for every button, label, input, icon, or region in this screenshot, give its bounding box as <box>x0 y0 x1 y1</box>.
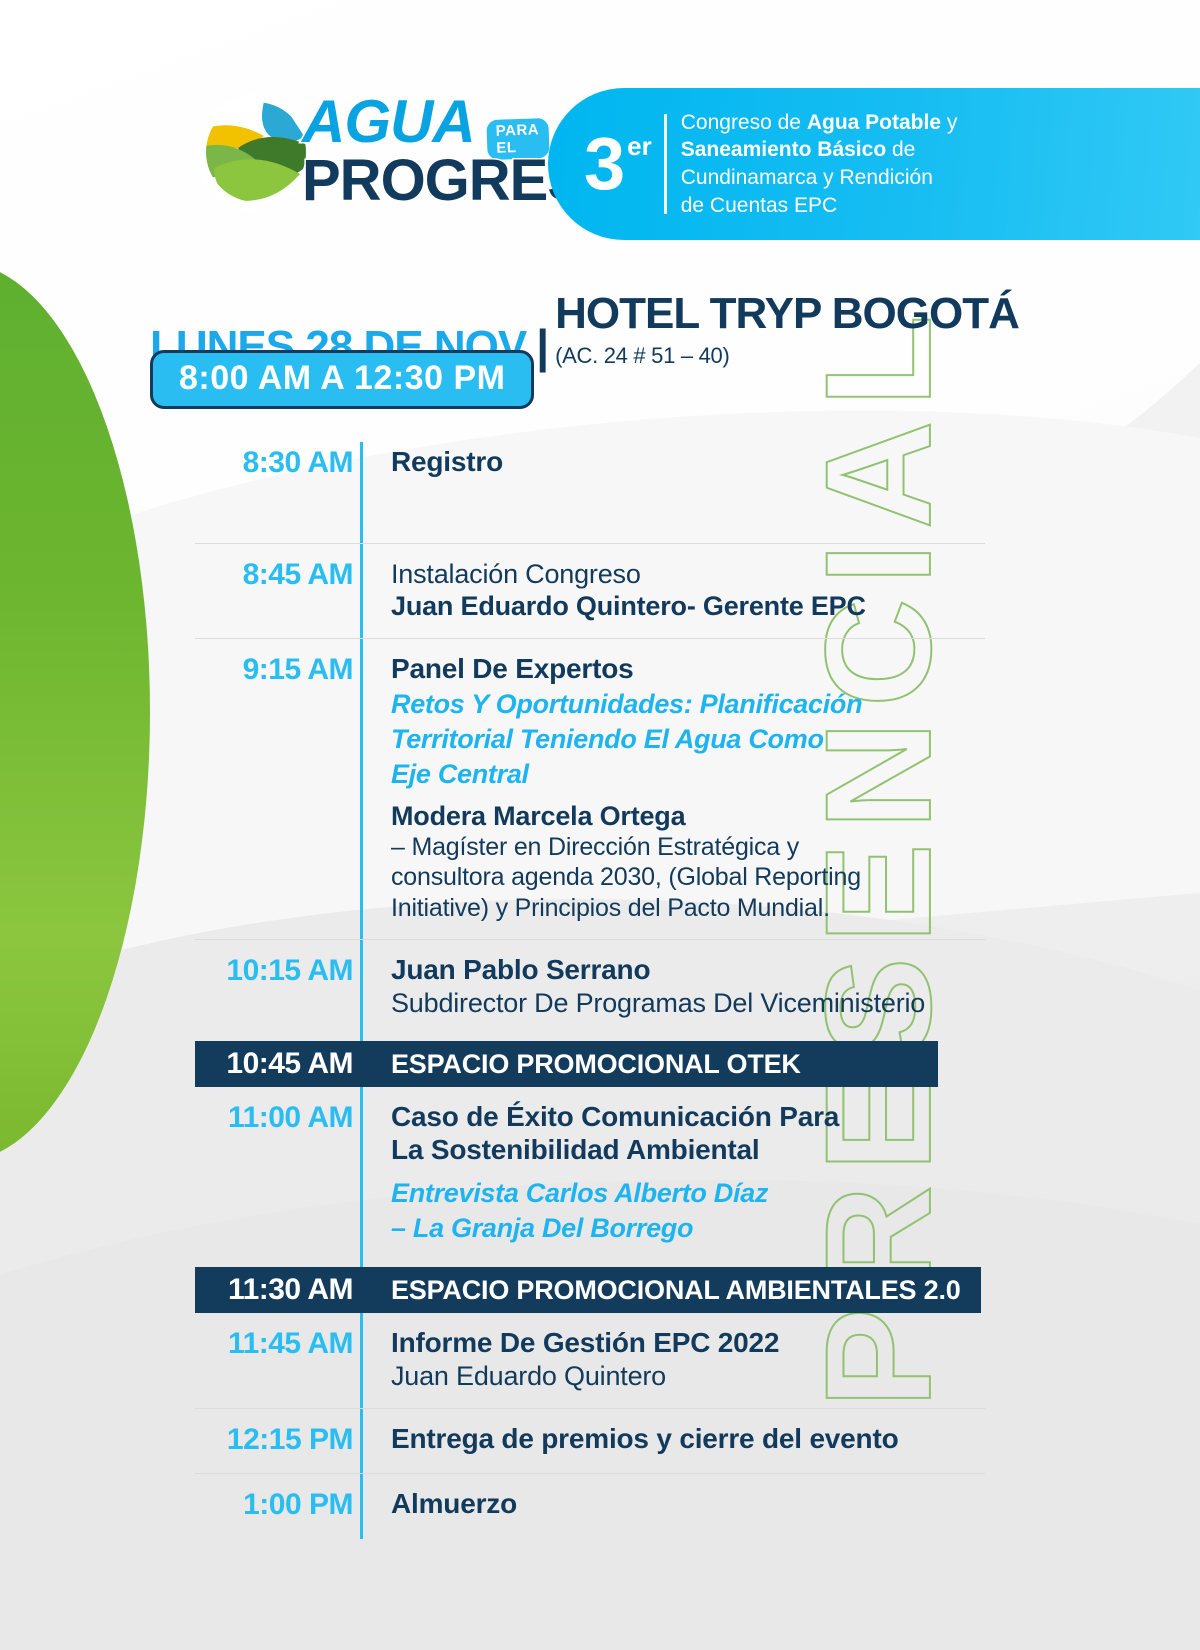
banner-line-3: Cundinamarca y Rendición <box>681 164 958 192</box>
banner-ordinal-number: 3 <box>584 127 625 201</box>
agenda-title: Registro <box>391 446 985 478</box>
agenda-subtitle: Juan Eduardo Quintero- Gerente EPC <box>391 590 985 622</box>
agenda-time: 1:00 PM <box>195 1488 371 1523</box>
event-date-venue: LUNES 28 DE NOV | HOTEL TRYP BOGOTÁ (AC.… <box>150 292 1050 369</box>
agenda-promo-row: 10:45 AM ESPACIO PROMOCIONAL OTEK <box>195 1041 938 1087</box>
agenda-title: Almuerzo <box>391 1488 985 1520</box>
agenda-title: Entrega de premios y cierre del evento <box>391 1423 985 1455</box>
agenda-time: 11:00 AM <box>195 1101 371 1136</box>
agenda-row: 10:15 AM Juan Pablo Serrano Subdirector … <box>195 939 985 1035</box>
agenda-row: 8:45 AM Instalación Congreso Juan Eduard… <box>195 543 985 639</box>
poster-header: AGUA PARA EL PROGRESO 3 er Congreso de A… <box>0 0 1200 250</box>
agenda-detail: Registro <box>371 446 985 478</box>
green-ellipse-decoration <box>0 262 150 1162</box>
agenda-title: Informe De Gestión EPC 2022 <box>391 1327 985 1359</box>
agenda-time: 11:30 AM <box>195 1273 371 1307</box>
row-accent-stripe <box>360 940 363 1035</box>
agenda-subtitle: Subdirector De Programas Del Viceministe… <box>391 987 985 1019</box>
agenda-row: 9:15 AM Panel De Expertos Retos Y Oportu… <box>195 638 985 939</box>
agenda-row: 12:15 PM Entrega de premios y cierre del… <box>195 1408 985 1474</box>
agenda-detail: Caso de Éxito Comunicación Para La Soste… <box>371 1101 985 1245</box>
brand-wordmark: AGUA PARA EL PROGRESO <box>302 88 552 228</box>
agenda-detail: Panel De Expertos Retos Y Oportunidades:… <box>371 653 985 923</box>
row-accent-stripe <box>360 1259 363 1267</box>
agenda-guest-line-2: – La Granja Del Borrego <box>391 1212 985 1245</box>
brand-logo: AGUA PARA EL PROGRESO <box>190 82 545 232</box>
agenda-title-line-1: Caso de Éxito Comunicación Para <box>391 1101 985 1133</box>
banner-line-4: de Cuentas EPC <box>681 192 958 220</box>
agenda-detail: Juan Pablo Serrano Subdirector De Progra… <box>371 954 985 1019</box>
agenda-bio-line-3: Initiative) y Principios del Pacto Mundi… <box>391 893 985 924</box>
agenda-title: Instalación Congreso <box>391 558 985 590</box>
agenda-promo-label: ESPACIO PROMOCIONAL AMBIENTALES 2.0 <box>371 1275 961 1306</box>
agenda-promo-label: ESPACIO PROMOCIONAL OTEK <box>371 1049 801 1080</box>
agenda-title-line-2: La Sostenibilidad Ambiental <box>391 1134 985 1166</box>
agenda-guest-line-1: Entrevista Carlos Alberto Díaz <box>391 1177 985 1210</box>
spacer <box>391 1166 985 1175</box>
logo-word-agua: AGUA <box>302 92 475 152</box>
agenda-moderator: Modera Marcela Ortega <box>391 800 985 832</box>
agenda-promo-row: 11:30 AM ESPACIO PROMOCIONAL AMBIENTALES… <box>195 1267 981 1313</box>
agenda-time: 10:15 AM <box>195 954 371 989</box>
row-accent-stripe <box>360 1409 363 1474</box>
banner-line-1: Congreso de Agua Potable y <box>681 109 958 137</box>
row-accent-stripe <box>360 442 363 543</box>
event-time-range-badge: 8:00 AM A 12:30 PM <box>150 350 534 409</box>
congress-banner: 3 er Congreso de Agua Potable y Saneamie… <box>548 88 1200 240</box>
row-accent-stripe <box>360 1474 363 1539</box>
agenda-theme-line-1: Retos Y Oportunidades: Planificación <box>391 688 985 721</box>
agenda-bio-line-1: – Magíster en Dirección Estratégica y <box>391 832 985 863</box>
row-accent-stripe <box>360 1313 363 1408</box>
agenda-title: Juan Pablo Serrano <box>391 954 985 986</box>
banner-ordinal: 3 er <box>584 127 652 201</box>
date-venue-separator: | <box>536 323 549 369</box>
banner-divider <box>664 114 667 214</box>
banner-text: Congreso de Agua Potable y Saneamiento B… <box>681 109 958 220</box>
agenda-bio-line-2: consultora agenda 2030, (Global Reportin… <box>391 862 985 893</box>
row-accent-stripe <box>360 639 363 939</box>
agenda-list: 8:30 AM Registro 8:45 AM Instalación Con… <box>195 432 985 1539</box>
row-accent-stripe <box>360 1087 363 1261</box>
agenda-theme-line-3: Eje Central <box>391 758 985 791</box>
water-landscape-logo-icon <box>192 90 320 218</box>
event-venue: HOTEL TRYP BOGOTÁ <box>555 292 1019 336</box>
banner-line-2: Saneamiento Básico de <box>681 136 958 164</box>
agenda-time: 9:15 AM <box>195 653 371 688</box>
agenda-time: 8:30 AM <box>195 446 371 481</box>
agenda-detail: Almuerzo <box>371 1488 985 1520</box>
agenda-row: 11:45 AM Informe De Gestión EPC 2022 Jua… <box>195 1313 985 1408</box>
agenda-time: 12:15 PM <box>195 1423 371 1458</box>
agenda-row: 1:00 PM Almuerzo <box>195 1473 985 1539</box>
agenda-row: 8:30 AM Registro <box>195 432 985 543</box>
agenda-subtitle: Juan Eduardo Quintero <box>391 1360 985 1392</box>
agenda-title: Panel De Expertos <box>391 653 985 685</box>
spacer <box>391 791 985 800</box>
agenda-detail: Instalación Congreso Juan Eduardo Quinte… <box>371 558 985 623</box>
event-address: (AC. 24 # 51 – 40) <box>555 343 1019 369</box>
row-accent-stripe <box>360 544 363 639</box>
agenda-time: 8:45 AM <box>195 558 371 593</box>
agenda-row: 11:00 AM Caso de Éxito Comunicación Para… <box>195 1087 985 1261</box>
event-agenda-poster: PRESENCIAL <box>0 0 1200 1650</box>
agenda-detail: Informe De Gestión EPC 2022 Juan Eduardo… <box>371 1327 985 1392</box>
agenda-detail: Entrega de premios y cierre del evento <box>371 1423 985 1455</box>
agenda-theme-line-2: Territorial Teniendo El Agua Como <box>391 723 985 756</box>
agenda-time: 10:45 AM <box>195 1047 371 1081</box>
banner-ordinal-suffix: er <box>627 133 652 159</box>
row-accent-stripe <box>360 1033 363 1041</box>
agenda-time: 11:45 AM <box>195 1327 371 1362</box>
